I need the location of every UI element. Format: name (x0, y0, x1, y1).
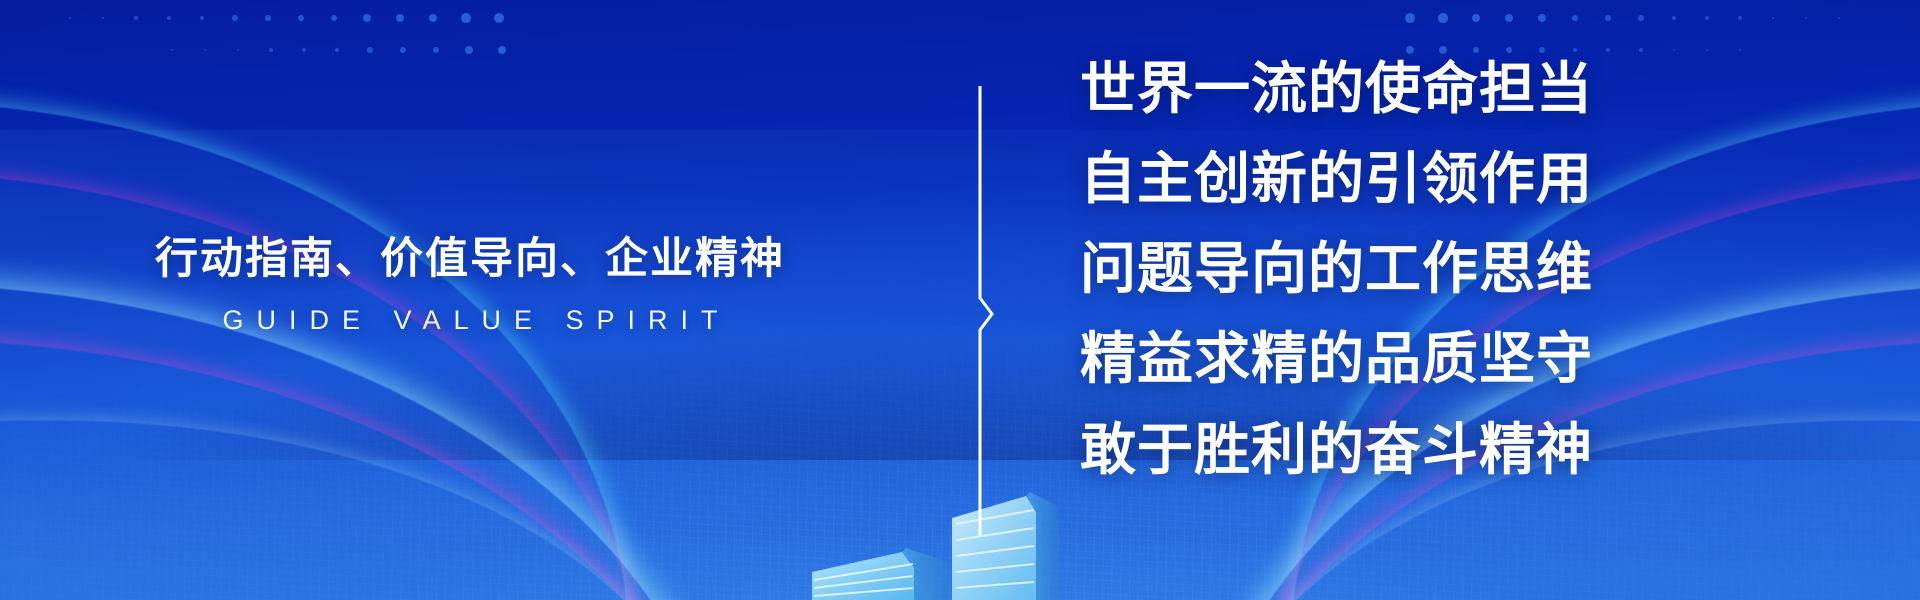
slogan-line-3: 问题导向的工作思维 (1080, 224, 1720, 314)
section-divider (975, 86, 997, 536)
right-text-block: 世界一流的使命担当 自主创新的引领作用 问题导向的工作思维 精益求精的品质坚守 … (1080, 44, 1720, 495)
left-title: 行动指南、价值导向、企业精神 (0, 236, 940, 283)
slogan-line-2: 自主创新的引领作用 (1080, 134, 1720, 224)
slogan-line-4: 精益求精的品质坚守 (1080, 314, 1720, 404)
culture-banner: 行动指南、价值导向、企业精神 GUIDE VALUE SPIRIT 世界一流的使… (0, 0, 1920, 600)
slogan-line-5: 敢于胜利的奋斗精神 (1080, 405, 1720, 495)
chevron-right-icon (975, 86, 997, 536)
left-text-block: 行动指南、价值导向、企业精神 GUIDE VALUE SPIRIT (0, 236, 940, 336)
slogan-line-1: 世界一流的使命担当 (1080, 44, 1720, 134)
left-subtitle: GUIDE VALUE SPIRIT (0, 305, 940, 336)
